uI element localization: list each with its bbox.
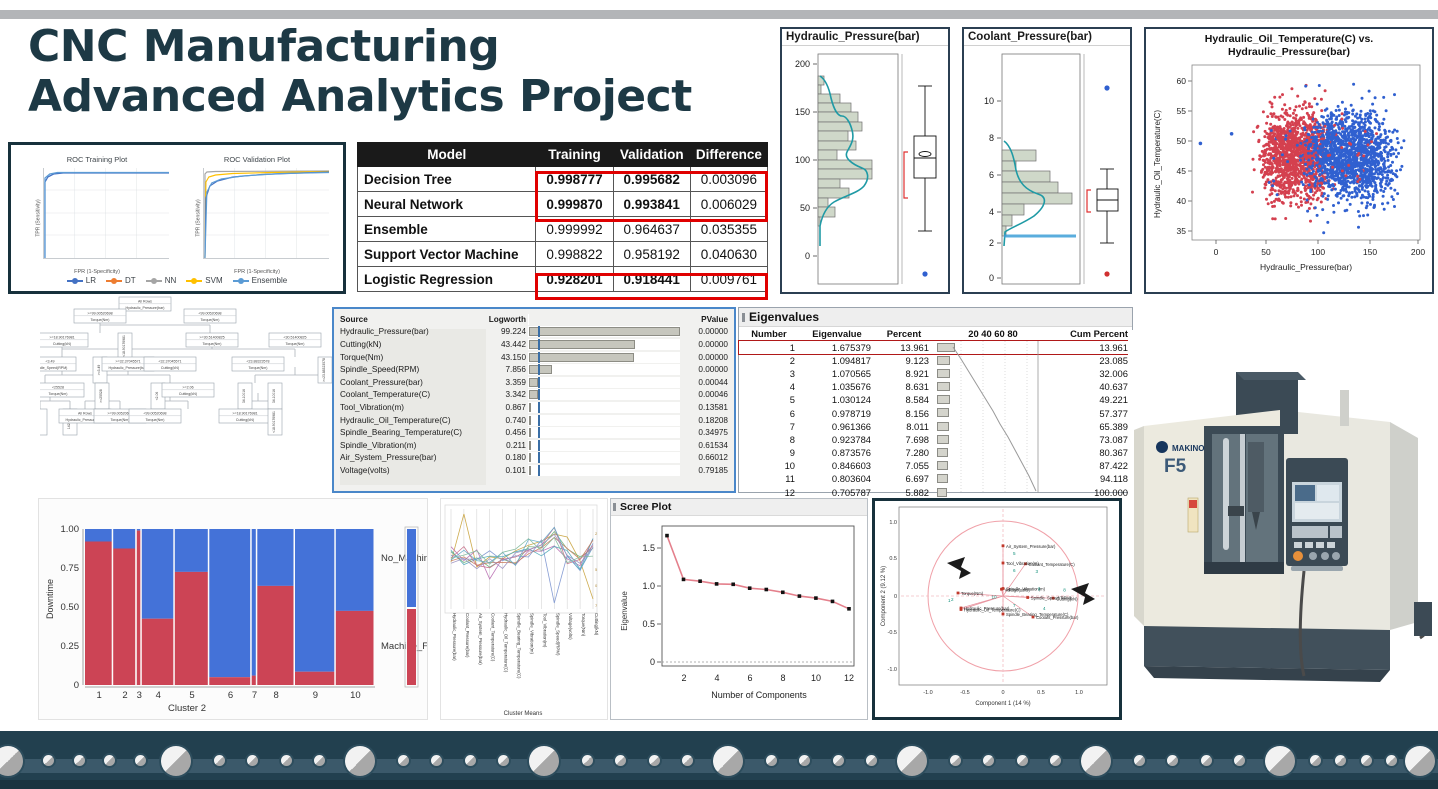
eigen-value: 0.705787 — [799, 486, 875, 499]
roc-legend: LRDTNNSVMEnsemble — [11, 276, 343, 285]
scatter-point — [1262, 145, 1265, 148]
scatter-point — [1303, 155, 1306, 158]
tree-node-condition: <30.51400825 — [283, 336, 306, 340]
scatter-point — [1293, 109, 1296, 112]
scatter-point — [1364, 124, 1367, 127]
scatter-point — [1316, 126, 1319, 129]
scatter-point — [1341, 170, 1344, 173]
eigen-number: 3 — [739, 367, 799, 380]
scatter-point — [1281, 108, 1284, 111]
scatter-point — [1312, 136, 1315, 139]
scatter-point — [1335, 150, 1338, 153]
mosaic-segment-failure — [85, 542, 112, 686]
scatter-point — [1357, 132, 1360, 135]
scatter-point — [1374, 127, 1377, 130]
source-name: Torque(Nm) — [334, 353, 474, 362]
source-name: Hydraulic_Oil_Temperature(C) — [334, 416, 474, 425]
scatter-point — [1385, 146, 1388, 149]
svg-text:Hydraulic_Oil_Temperature(C): Hydraulic_Oil_Temperature(C) — [1153, 110, 1162, 218]
scatter-point — [1374, 148, 1377, 151]
mosaic-xlabel: Cluster 2 — [168, 703, 206, 714]
eigen-header-3: 20 40 60 80 — [933, 327, 1053, 341]
scatter-point — [1386, 202, 1389, 205]
scatter-point — [1357, 143, 1360, 146]
scatter-point — [1301, 134, 1304, 137]
scatter-point — [1367, 117, 1370, 120]
scatter-point — [1307, 179, 1310, 182]
mosaic-xtick: 1 — [96, 690, 101, 701]
eigenvalues-header-row: NumberEigenvaluePercent20 40 60 80Cum Pe… — [739, 327, 1132, 341]
mosaic-segment-failure — [113, 549, 135, 686]
training-cell: 0.928201 — [536, 267, 613, 292]
scatter-point — [1327, 163, 1330, 166]
mosaic-xtick: 7 — [252, 690, 257, 701]
scatter-point — [1308, 102, 1311, 105]
roc-training-title: ROC Training Plot — [17, 155, 177, 164]
table-body: Decision Tree0.9987770.9956820.003096Neu… — [358, 167, 768, 292]
scatter-point — [1360, 139, 1363, 142]
scatter-point — [1305, 174, 1308, 177]
significance-reference-line — [538, 440, 540, 451]
scatter-point — [1318, 158, 1321, 161]
scatter-point — [1334, 188, 1337, 191]
scatter-point — [1285, 190, 1288, 193]
scatter-point — [1370, 138, 1373, 141]
legend-label: SVM — [205, 276, 222, 285]
table-row: 100.8466037.05587.422 — [739, 459, 1132, 472]
scatter-point — [1356, 175, 1359, 178]
tree-node-condition: >=18.90176981 — [49, 336, 74, 340]
scree-point — [847, 607, 851, 611]
scatter-point — [1289, 162, 1292, 165]
model-name-cell: Logistic Regression — [358, 267, 536, 292]
scatter-point — [1278, 96, 1281, 99]
scatter-point — [1288, 186, 1291, 189]
tree-node-condition: <32.37045571 — [158, 360, 181, 364]
svg-text:4: 4 — [714, 673, 719, 683]
scatter-point — [1268, 181, 1271, 184]
scatter-point — [1375, 170, 1378, 173]
eigen-value: 0.873576 — [799, 446, 875, 459]
mosaic-segment-no-failure — [85, 529, 112, 542]
scatter-point — [1299, 159, 1302, 162]
scatter-point — [1298, 164, 1301, 167]
parallel-cluster-marker: 2 — [595, 531, 598, 536]
scatter-point — [1330, 189, 1333, 192]
source-name: Coolant_Pressure(bar) — [334, 378, 474, 387]
scatter-point — [1351, 167, 1354, 170]
parallel-svg: Hydraulic_Pressure(bar)Coolant_Pressure(… — [441, 499, 607, 719]
eigen-percent: 7.698 — [875, 433, 933, 446]
parallel-axis-label: Torque(Nm) — [581, 613, 586, 637]
scatter-point — [1337, 126, 1340, 129]
scree-xlabel: Number of Components — [711, 690, 807, 700]
eigen-number: 5 — [739, 393, 799, 406]
eigen-value: 0.923784 — [799, 433, 875, 446]
pvalue-value: 0.13581 — [682, 403, 734, 412]
footer-band — [0, 731, 1438, 789]
scatter-point — [1349, 143, 1352, 146]
scree-point — [765, 588, 769, 592]
pvalue-value: 0.66012 — [682, 453, 734, 462]
rivet-large-icon — [1081, 746, 1111, 776]
scatter-point — [1391, 147, 1394, 150]
scatter-point — [1333, 157, 1336, 160]
legend-label: LR — [86, 276, 96, 285]
svg-text:0: 0 — [989, 273, 994, 283]
scatter-point — [1333, 124, 1336, 127]
biplot-point — [1002, 544, 1005, 547]
scatter-point — [1381, 178, 1384, 181]
scatter-point — [1260, 155, 1263, 158]
roc-validation-ylabel: TPR (Sensitivity) — [196, 199, 202, 236]
scatter-point — [1354, 135, 1357, 138]
top-accent-bar — [0, 10, 1438, 19]
scatter-point — [1278, 199, 1281, 202]
scatter-point — [1319, 130, 1322, 133]
scatter-point — [1334, 129, 1337, 132]
scatter-point — [1275, 177, 1278, 180]
rivet-small-icon — [1017, 755, 1028, 766]
scatter-point — [1319, 189, 1322, 192]
scatter-point — [1317, 150, 1320, 153]
table-row: 51.0301248.58449.221 — [739, 393, 1132, 406]
scatter-point — [1303, 198, 1306, 201]
scatter-point — [1395, 170, 1398, 173]
machine-brand: MAKINO — [1172, 444, 1204, 453]
scatter-point — [1396, 192, 1399, 195]
scatter-point — [1294, 139, 1297, 142]
scatter-point — [1332, 204, 1335, 207]
eigen-header-1: Eigenvalue — [799, 327, 875, 341]
scree-ylabel: Eigenvalue — [620, 591, 629, 631]
scatter-point — [1366, 150, 1369, 153]
eigen-value: 1.675379 — [799, 341, 875, 354]
source-name: Cutting(kN) — [334, 340, 474, 349]
scatter-point — [1296, 95, 1299, 98]
table-row: 70.9613668.01165.389 — [739, 420, 1132, 433]
scatter-point — [1387, 143, 1390, 146]
scatter-point — [1302, 116, 1305, 119]
scatter-point — [1299, 155, 1302, 158]
table-row: 110.8036046.69794.118 — [739, 472, 1132, 485]
scree-point — [698, 579, 702, 583]
scatter-point — [1291, 157, 1294, 160]
scatter-point — [1371, 159, 1374, 162]
model-name-cell: Decision Tree — [358, 167, 536, 192]
scatter-point — [1262, 164, 1265, 167]
mosaic-legend-swatch-no-failure — [407, 529, 416, 607]
scatter-point — [1368, 90, 1371, 93]
parallel-axis-label: Spindle_Bearing_Temperature(C) — [517, 613, 522, 679]
scree-point — [831, 600, 835, 604]
mosaic-segment-failure — [257, 586, 293, 685]
logworth-value: 3.342 — [474, 390, 526, 399]
scatter-point — [1300, 204, 1303, 207]
scatter-point — [1368, 169, 1371, 172]
parallel-axis-label: Spindle_Speed(RPM) — [555, 613, 560, 656]
scatter-point — [1333, 172, 1336, 175]
scatter-point — [1277, 116, 1280, 119]
scatter-point — [1385, 137, 1388, 140]
mosaic-svg: Downtime 1.000.750.500.250 12345678910 C… — [39, 499, 427, 719]
scatter-point — [1272, 150, 1275, 153]
eigen-number: 2 — [739, 354, 799, 367]
mosaic-ytick: 0 — [74, 680, 79, 691]
scatter-point — [1350, 104, 1353, 107]
scatter-point — [1327, 142, 1330, 145]
svg-text:1.0: 1.0 — [889, 520, 897, 526]
scatter-point — [1347, 116, 1350, 119]
table-row: 120.7057875.882100.000 — [739, 486, 1132, 499]
source-row: Hydraulic_Oil_Temperature(C)0.7400.18208 — [334, 414, 734, 427]
scatter-point — [1351, 119, 1354, 122]
scatter-point — [1341, 121, 1344, 124]
tree-node-variable: Torque(Nm) — [286, 342, 305, 346]
scatter-point — [1272, 142, 1275, 145]
eigen-percent: 8.921 — [875, 367, 933, 380]
table-row: 41.0356768.63140.637 — [739, 380, 1132, 393]
svg-text:1.5: 1.5 — [642, 543, 655, 553]
scatter-point — [1320, 145, 1323, 148]
scatter-point — [1362, 155, 1365, 158]
scatter-point — [1317, 169, 1320, 172]
scatter-point — [1341, 127, 1344, 130]
mosaic-xtick: 10 — [350, 690, 361, 701]
svg-text:50: 50 — [800, 203, 810, 213]
scatter-title-line-2: Hydraulic_Pressure(bar) — [1146, 46, 1432, 59]
scatter-point — [1265, 181, 1268, 184]
scree-point — [748, 586, 752, 590]
mosaic-ytick: 1.00 — [61, 524, 80, 535]
scatter-point — [1402, 140, 1405, 143]
logworth-bar — [529, 403, 531, 412]
scatter-point — [1327, 195, 1330, 198]
scatter-point — [1296, 174, 1299, 177]
scatter-point — [1264, 184, 1267, 187]
scatter-point — [1295, 178, 1298, 181]
scatter-point — [1357, 226, 1360, 229]
rivet-small-icon — [582, 755, 593, 766]
source-row: Cutting(kN)43.4420.00000 — [334, 338, 734, 351]
eigen-value: 1.035676 — [799, 380, 875, 393]
scatter-point — [1383, 129, 1386, 132]
table-row: 11.67537913.96113.961 — [739, 341, 1132, 354]
scatter-point — [1373, 206, 1376, 209]
biplot-loading-label: Voltage(volts) — [1005, 587, 1031, 592]
scatter-point — [1358, 185, 1361, 188]
difference-cell: 0.006029 — [690, 192, 767, 217]
scatter-point — [1324, 90, 1327, 93]
scatter-point — [1319, 153, 1322, 156]
tree-node-condition: >=30.51400825 — [199, 336, 224, 340]
scatter-point — [1344, 155, 1347, 158]
rivet-large-icon — [713, 746, 743, 776]
scatter-point — [1258, 158, 1261, 161]
scatter-point — [1341, 101, 1344, 104]
scatter-point — [1399, 169, 1402, 172]
svg-text:60: 60 — [1177, 76, 1187, 86]
model-name-cell: Neural Network — [358, 192, 536, 217]
scatter-point — [1271, 166, 1274, 169]
logworth-value: 7.856 — [474, 365, 526, 374]
eigen-cum-percent: 32.006 — [1053, 367, 1132, 380]
scatter-point — [1289, 146, 1292, 149]
tree-node-condition: >=2.06 — [182, 386, 193, 390]
logworth-bar-cell — [528, 465, 680, 476]
scatter-point — [1285, 109, 1288, 112]
scatter-point — [1397, 141, 1400, 144]
svg-text:0: 0 — [894, 594, 897, 600]
scatter-point — [1381, 122, 1384, 125]
tree-node-condition: All Rows — [138, 300, 152, 304]
eigen-cum-percent: 13.961 — [1053, 341, 1132, 354]
scatter-point — [1262, 159, 1265, 162]
parallel-cluster-marker: 7 — [595, 603, 598, 608]
table-row: Ensemble0.9999920.9646370.035355 — [358, 217, 768, 242]
parallel-cluster-marker: 5 — [595, 567, 598, 572]
scatter-point — [1298, 183, 1301, 186]
scatter-point — [1400, 165, 1403, 168]
svg-text:0.5: 0.5 — [1037, 690, 1045, 696]
scatter-point — [1337, 173, 1340, 176]
significance-reference-line — [538, 377, 540, 388]
svg-text:100: 100 — [795, 155, 810, 165]
scatter-point — [1265, 122, 1268, 125]
tree-node-variable: Torque(Nm) — [201, 318, 220, 322]
scatter-point — [1320, 109, 1323, 112]
scatter-point — [1351, 113, 1354, 116]
parallel-axis-label: Spindle_Vibration(m) — [530, 613, 535, 654]
page-title: CNC Manufacturing Advanced Analytics Pro… — [28, 22, 728, 122]
scatter-point — [1381, 203, 1384, 206]
scatter-point — [1343, 125, 1346, 128]
scatter-point — [1270, 201, 1273, 204]
scatter-point — [1342, 130, 1345, 133]
scatter-point — [1331, 183, 1334, 186]
scatter-point — [1371, 146, 1374, 149]
scatter-point — [1348, 193, 1351, 196]
scatter-point — [1346, 199, 1349, 202]
scatter-point — [1349, 182, 1352, 185]
scatter-point — [1266, 115, 1269, 118]
scatter-point — [1287, 181, 1290, 184]
scree-svg: Eigenvalue 1.51.0 0.50 246 81012 Number … — [611, 516, 865, 714]
biplot-index-label: 6 — [1013, 568, 1016, 573]
rivet-small-icon — [833, 755, 844, 766]
eigen-percent: 7.280 — [875, 446, 933, 459]
pca-loading-plot: Torque(Nm)1Hydraulic_Pressure(bar)2Hydra… — [872, 498, 1122, 720]
scatter-point — [1280, 115, 1283, 118]
tree-node-condition: <99.00520698 — [198, 312, 221, 316]
training-cell: 0.999870 — [536, 192, 613, 217]
scatter-point — [1329, 138, 1332, 141]
scatter-point — [1252, 158, 1255, 161]
scatter-point — [1304, 144, 1307, 147]
scatter-point — [1360, 158, 1363, 161]
scatter-point — [1284, 187, 1287, 190]
training-cell: 0.998822 — [536, 242, 613, 267]
scatter-point — [1342, 195, 1345, 198]
significance-reference-line — [538, 415, 540, 426]
scatter-point — [1362, 151, 1365, 154]
scatter-point — [1353, 196, 1356, 199]
mosaic-ytick: 0.25 — [61, 641, 80, 652]
scatter-point — [1352, 83, 1355, 86]
scatter-point — [1309, 176, 1312, 179]
tree-node-condition: <25528 — [52, 386, 64, 390]
scatter-point — [1329, 127, 1332, 130]
scatter-point — [1264, 154, 1267, 157]
validation-cell: 0.995682 — [613, 167, 690, 192]
logworth-bar-cell — [528, 377, 680, 388]
scatter-point — [1352, 180, 1355, 183]
mosaic-segment-failure — [175, 572, 208, 685]
scatter-point — [1364, 190, 1367, 193]
logworth-bar — [529, 441, 531, 450]
scatter-point — [1312, 170, 1315, 173]
scatter-point — [1302, 122, 1305, 125]
biplot-point — [1000, 588, 1003, 591]
table-row: 90.8735767.28080.367 — [739, 446, 1132, 459]
scatter-point — [1309, 123, 1312, 126]
parallel-axis-label: Hydraulic_Oil_Temperature(C) — [504, 613, 509, 673]
mosaic-segment-no-failure — [209, 529, 250, 677]
tree-node-condition: >=32.37045571 — [115, 360, 140, 364]
model-comparison-table: ModelTrainingValidationDifference Decisi… — [357, 142, 768, 292]
parallel-axis-label: Hydraulic_Pressure(bar) — [452, 613, 457, 661]
svg-text:150: 150 — [795, 107, 810, 117]
scatter-point — [1320, 177, 1323, 180]
significance-reference-line — [538, 402, 540, 413]
svg-text:-1.0: -1.0 — [888, 667, 897, 673]
scatter-point — [1279, 169, 1282, 172]
scatter-point — [1278, 126, 1281, 129]
eigen-cum-percent: 23.085 — [1053, 354, 1132, 367]
scatter-point — [1384, 187, 1387, 190]
tree-node-condition: <99.00520698 — [143, 412, 166, 416]
eigen-value: 0.961366 — [799, 420, 875, 433]
svg-text:6: 6 — [989, 170, 994, 180]
scatter-point — [1315, 136, 1318, 139]
rivet-small-icon — [950, 755, 961, 766]
title-line-2: Advanced Analytics Project — [28, 72, 728, 122]
scatter-point — [1263, 187, 1266, 190]
scatter-point — [1287, 196, 1290, 199]
scatter-point — [1280, 192, 1283, 195]
svg-text:-0.5: -0.5 — [960, 690, 969, 696]
scatter-point — [1280, 181, 1283, 184]
scatter-point — [1325, 176, 1328, 179]
logworth-bar — [529, 428, 531, 437]
scatter-point — [1284, 217, 1287, 220]
scatter-point — [1295, 181, 1298, 184]
scatter-point — [1358, 124, 1361, 127]
biplot-point — [957, 592, 960, 595]
scatter-point — [1320, 98, 1323, 101]
scatter-point — [1306, 124, 1309, 127]
scatter-point — [1294, 117, 1297, 120]
tree-node-condition: >=3.49 — [97, 365, 101, 376]
rivet-small-icon — [465, 755, 476, 766]
scatter-point — [1368, 180, 1371, 183]
scatter-point — [1296, 144, 1299, 147]
scatter-point — [1389, 187, 1392, 190]
svg-text:8: 8 — [989, 133, 994, 143]
scatter-point — [1340, 152, 1343, 155]
scatter-point — [1382, 96, 1385, 99]
scatter-point — [1272, 127, 1275, 130]
